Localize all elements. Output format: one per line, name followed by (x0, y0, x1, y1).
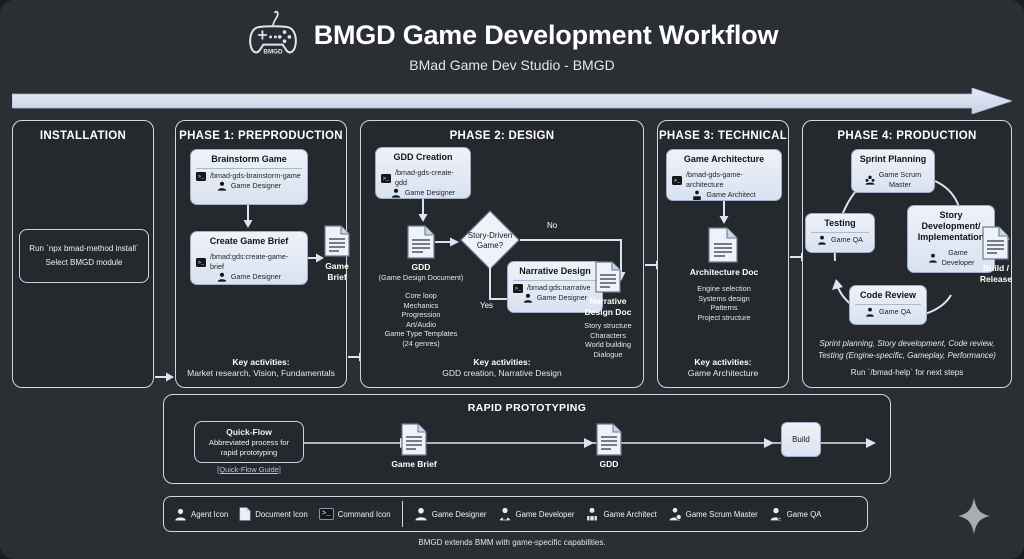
card-command-row: >_ /bmad:gds:create-game-brief (196, 252, 302, 272)
document-icon-gdd (407, 225, 435, 259)
phase-2-design: PHASE 2: DESIGN GDD Creation >_ /bmad-gd… (360, 120, 644, 388)
phase-title: INSTALLATION (13, 130, 153, 142)
document-icon-build-release (982, 226, 1009, 260)
architecture-bullet-list: Engine selection Systems design Patterns… (669, 284, 779, 322)
legend-item-command-icon: >_ Command Icon (319, 508, 391, 520)
card-agent: Game Architect (706, 190, 755, 200)
phase-3-technical: PHASE 3: TECHNICAL Game Architecture >_ … (657, 120, 789, 388)
decision-no-label: No (547, 221, 557, 230)
logo-text: BMGD (263, 48, 283, 55)
svg-text:Story-Driven: Story-Driven (468, 231, 512, 240)
install-module-line: Select BMGD module (46, 256, 123, 270)
card-divider (855, 304, 921, 305)
phase-installation: INSTALLATION Run `npx bmad-method instal… (12, 120, 154, 388)
game-qa-icon (817, 235, 827, 245)
game-architect-icon (692, 190, 702, 200)
agent-icon (217, 272, 227, 282)
command-icon: >_ (513, 284, 523, 293)
document-icon-narrative-design (595, 261, 621, 293)
legend-item-game-qa: Game QA (769, 507, 822, 521)
legend-item-agent-icon: Agent Icon (174, 508, 228, 521)
card-agent: Game Designer (405, 188, 455, 198)
card-agent-row: Game Designer (196, 181, 302, 191)
phase-title: PHASE 3: TECHNICAL (658, 130, 788, 142)
card-command: /bmad:gds:create-game-brief (210, 252, 302, 272)
document-icon-rapid-game-brief (401, 423, 427, 456)
header: BMGD BMGD Game Development Workflow BMad… (0, 0, 1024, 82)
quickflow-title: Quick-Flow (226, 426, 272, 438)
legend-item-game-developer: Game Developer (498, 507, 575, 521)
card-title: GDD Creation (393, 151, 452, 165)
card-create-game-brief[interactable]: Create Game Brief >_ /bmad:gds:create-ga… (190, 231, 308, 285)
document-icon (239, 507, 251, 521)
card-command-row: >_ /bmad-gds-game-architecture (672, 170, 776, 190)
rapid-label-gdd: GDD (573, 459, 645, 470)
document-icon-game-brief (324, 225, 350, 257)
card-brainstorm-game[interactable]: Brainstorm Game >_ /bmad-gds-brainstorm-… (190, 149, 308, 205)
game-developer-icon (498, 507, 512, 521)
command-icon: >_ (672, 176, 682, 185)
doc-label-build-release: Build / Release (960, 263, 1024, 284)
phase-key-activities: Key activities: Game Architecture (662, 357, 784, 379)
doc-label-narrative-design: Narrative Design Doc (572, 296, 644, 317)
doc-sublabel-gdd: (Game Design Document) (366, 273, 476, 283)
key-activities-text: Game Architecture (688, 368, 758, 378)
legend-label: Agent Icon (191, 510, 228, 519)
phase-1-preproduction: PHASE 1: PREPRODUCTION Brainstorm Game >… (175, 120, 347, 388)
card-divider (811, 232, 869, 233)
gdd-bullet-list: Core loop Mechanics Progression Art/Audi… (366, 291, 476, 349)
card-title: Brainstorm Game (211, 153, 287, 167)
legend-label: Game Scrum Master (686, 510, 758, 519)
card-testing[interactable]: Testing Game QA (805, 213, 875, 253)
key-activities-text: Market research, Vision, Fundamentals (187, 368, 335, 378)
phase-key-activities: Key activities: Market research, Vision,… (180, 357, 342, 379)
game-qa-icon (865, 307, 875, 317)
card-agent: Game Designer (231, 181, 281, 191)
rapid-build-box[interactable]: Build (781, 422, 821, 457)
game-architect-icon (585, 507, 599, 521)
quickflow-guide-link[interactable]: [Quick-Flow Guide] (189, 465, 309, 474)
card-title: Story Development/ Implementation (918, 209, 985, 245)
phase-key-activities: Key activities: GDD creation, Narrative … (365, 357, 639, 379)
key-activities-label: Key activities: (473, 357, 530, 367)
game-developer-icon (928, 253, 938, 263)
install-command-line: Run `npx bmad-method install` (29, 242, 138, 256)
svg-text:Game?: Game? (477, 241, 504, 250)
card-agent: Game Designer (231, 272, 281, 282)
card-title: Narrative Design (519, 265, 591, 279)
game-scrum-master-icon (668, 507, 682, 521)
command-icon: >_ (196, 172, 206, 181)
legend-label: Command Icon (338, 510, 391, 519)
phase4-key-line1: Sprint planning, Story development, Code… (804, 338, 1010, 350)
installation-instruction-box: Run `npx bmad-method install` Select BMG… (19, 229, 149, 283)
quickflow-desc-line2: rapid prototyping (221, 448, 278, 458)
card-agent-row: Game Designer (196, 272, 302, 282)
agent-icon (523, 293, 533, 303)
rapid-prototyping-title: RAPID PROTOTYPING (164, 402, 890, 414)
narrative-bullet-list: Story structure Characters World buildin… (553, 321, 663, 359)
card-agent-row: Game Architect (672, 190, 776, 200)
agent-icon (217, 181, 227, 191)
document-icon-rapid-gdd (596, 423, 622, 456)
card-command: /bmad-gds-game-architecture (686, 170, 776, 190)
card-command-row: >_ /bmad-gds-brainstorm-game (196, 171, 302, 181)
key-activities-text: GDD creation, Narrative Design (442, 368, 562, 378)
card-sprint-planning[interactable]: Sprint Planning Game Scrum Master (851, 149, 935, 193)
legend-label: Game QA (787, 510, 822, 519)
card-game-architecture[interactable]: Game Architecture >_ /bmad-gds-game-arch… (666, 149, 782, 201)
card-command: /bmad:gds:narrative (527, 283, 591, 293)
legend-divider (402, 501, 403, 527)
legend-item-game-scrum-master: Game Scrum Master (668, 507, 758, 521)
game-designer-icon (414, 507, 428, 521)
card-title: Testing (824, 217, 855, 231)
rapid-label-game-brief: Game Brief (378, 459, 450, 470)
legend-icon-group: Agent Icon Document Icon >_ Command Icon (174, 507, 391, 521)
page-title: BMGD Game Development Workflow (314, 20, 779, 51)
phase-title: PHASE 1: PREPRODUCTION (176, 130, 346, 142)
card-agent: Game QA (879, 307, 911, 317)
card-agent-row: Game Scrum Master (857, 170, 929, 190)
arrow-install-to-phase1 (154, 370, 176, 384)
game-scrum-master-icon (865, 175, 875, 185)
phase-title: PHASE 4: PRODUCTION (803, 130, 1011, 142)
card-agent-row: Game QA (811, 235, 869, 245)
legend-item-game-designer: Game Designer (414, 507, 487, 521)
card-command: /bmad-gds-brainstorm-game (210, 171, 301, 181)
doc-label-architecture: Architecture Doc (687, 267, 761, 278)
bmgd-gamepad-logo: BMGD (246, 10, 300, 60)
footnote: BMGD extends BMM with game-specific capa… (0, 538, 1024, 547)
card-title: Create Game Brief (210, 235, 289, 249)
quickflow-box[interactable]: Quick-Flow Abbreviated process for rapid… (194, 421, 304, 463)
command-icon: >_ (381, 174, 391, 183)
card-divider (513, 280, 597, 281)
legend-label: Game Architect (603, 510, 656, 519)
legend-item-game-architect: Game Architect (585, 507, 656, 521)
card-command-row: >_ /bmad:gds:narrative (513, 283, 597, 293)
document-icon-architecture (708, 227, 738, 263)
phase-progression-arrow (12, 88, 1012, 114)
legend-label: Document Icon (255, 510, 307, 519)
phase4-key-line3: Run `/bmad-help` for next steps (804, 367, 1010, 379)
command-icon: >_ (319, 508, 334, 520)
phase4-key-line2: Testing (Engine-specific, Gameplay, Perf… (804, 350, 1010, 362)
card-title: Sprint Planning (860, 153, 927, 167)
card-title: Game Architecture (684, 153, 764, 167)
phase-title: PHASE 2: DESIGN (361, 130, 643, 142)
card-agent: Game QA (831, 235, 863, 245)
quickflow-desc-line1: Abbreviated process for (209, 438, 289, 448)
arrow-gddcreation-to-gdddoc (416, 199, 430, 225)
arrow-brainstorm-to-brief (241, 205, 255, 231)
arrow-gdddoc-to-decision (435, 235, 461, 249)
card-divider (196, 168, 302, 169)
phase4-key-activities: Sprint planning, Story development, Code… (804, 338, 1010, 379)
phase-columns: INSTALLATION Run `npx bmad-method instal… (12, 120, 1012, 388)
card-agent: Game Scrum Master (879, 170, 921, 190)
command-icon: >_ (196, 258, 206, 267)
agent-icon (391, 188, 401, 198)
card-command: /bmad-gds-create-gdd (395, 168, 465, 188)
legend-panel: Agent Icon Document Icon >_ Command Icon (163, 496, 868, 532)
arrow-architecture-to-doc (717, 201, 731, 227)
rapid-prototyping-panel: RAPID PROTOTYPING Quick-Flow Abbreviated… (163, 394, 891, 484)
agent-icon (174, 508, 187, 521)
page-subtitle: BMad Game Dev Studio - BMGD (0, 57, 1024, 73)
legend-item-document-icon: Document Icon (239, 507, 307, 521)
decision-yes-label: Yes (480, 301, 493, 310)
key-activities-label: Key activities: (232, 357, 289, 367)
key-activities-label: Key activities: (694, 357, 751, 367)
card-agent-row: Game QA (855, 307, 921, 317)
card-code-review[interactable]: Code Review Game QA (849, 285, 927, 325)
sparkle-icon (957, 497, 991, 535)
card-title: Code Review (860, 289, 916, 303)
card-gdd-creation[interactable]: GDD Creation >_ /bmad-gds-create-gdd Gam… (375, 147, 471, 199)
game-qa-icon (769, 507, 783, 521)
legend-label: Game Designer (432, 510, 487, 519)
workflow-diagram: BMGD BMGD Game Development Workflow BMad… (0, 0, 1024, 559)
doc-label-gdd: GDD (385, 262, 457, 273)
legend-role-group: Game Designer Game Developer Game Archit… (414, 507, 821, 521)
legend-label: Game Developer (516, 510, 575, 519)
card-agent-row: Game Designer (381, 188, 465, 198)
card-command-row: >_ /bmad-gds-create-gdd (381, 168, 465, 188)
